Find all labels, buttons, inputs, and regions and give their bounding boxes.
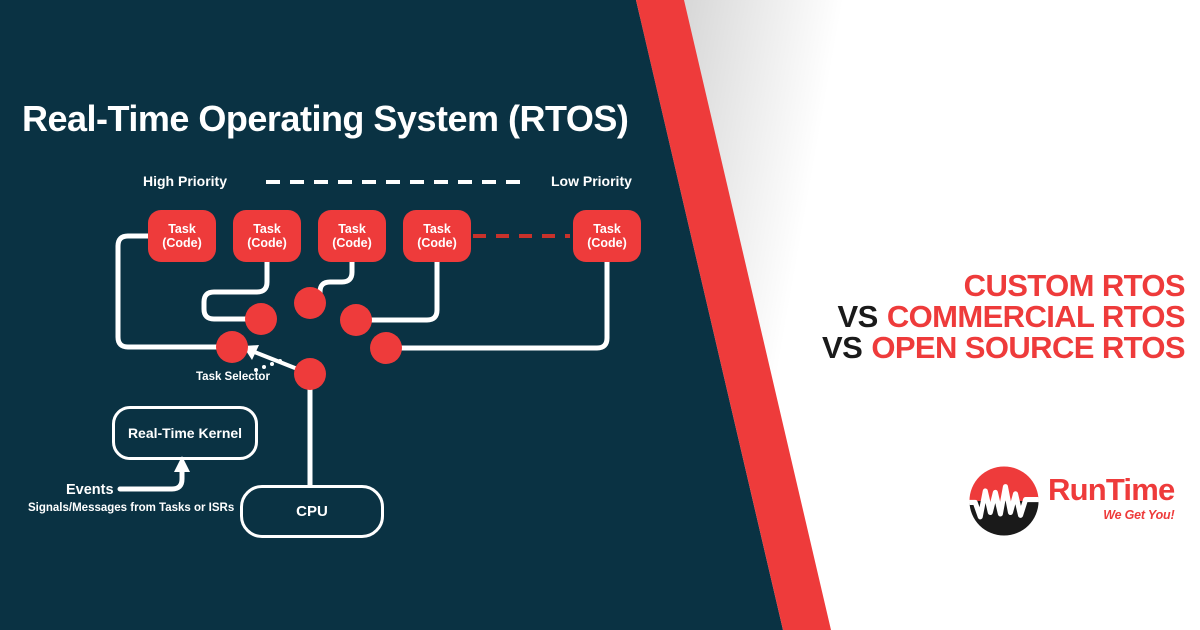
task-box-1-line2: (Code) — [162, 236, 202, 250]
queue-node-1 — [245, 303, 277, 335]
headline-row-2: VS COMMERCIAL RTOS — [795, 301, 1185, 332]
headline-line-1: CUSTOM RTOS — [964, 270, 1185, 301]
headline-row-3: VS OPEN SOURCE RTOS — [795, 332, 1185, 363]
task-box-4[interactable]: Task (Code) — [403, 210, 471, 262]
task-box-5-line1: Task — [593, 222, 621, 236]
headline-line-3: OPEN SOURCE RTOS — [871, 332, 1185, 363]
task-box-5-line2: (Code) — [587, 236, 627, 250]
task-selector-label: Task Selector — [196, 371, 270, 383]
runtime-name: RunTime — [1048, 474, 1174, 505]
vs-label-2: VS — [822, 332, 862, 363]
events-label: Events — [66, 482, 114, 498]
task-box-4-line1: Task — [423, 222, 451, 236]
queue-node-3 — [340, 304, 372, 336]
task-box-3-line2: (Code) — [332, 236, 372, 250]
cpu-label: CPU — [296, 503, 328, 520]
queue-node-4 — [370, 332, 402, 364]
headline-row-1: VS CUSTOM RTOS — [795, 270, 1185, 301]
runtime-waveform-icon — [968, 465, 1040, 537]
task-box-3-line1: Task — [338, 222, 366, 236]
real-time-kernel-label: Real-Time Kernel — [128, 425, 242, 441]
cpu-box[interactable]: CPU — [240, 485, 384, 538]
comparison-headline: VS CUSTOM RTOS VS COMMERCIAL RTOS VS OPE… — [795, 270, 1185, 363]
runtime-logo[interactable]: RunTime We Get You! — [968, 462, 1168, 542]
task-box-1-line1: Task — [168, 222, 196, 236]
runtime-name-time: Time — [1106, 472, 1175, 507]
runtime-tagline: We Get You! — [1048, 508, 1174, 522]
task-box-5[interactable]: Task (Code) — [573, 210, 641, 262]
task-box-4-line2: (Code) — [417, 236, 457, 250]
events-sublabel: Signals/Messages from Tasks or ISRs — [28, 501, 198, 517]
headline-line-2: COMMERCIAL RTOS — [887, 301, 1185, 332]
queue-node-2 — [294, 287, 326, 319]
vs-label-1: VS — [838, 301, 878, 332]
task-box-2[interactable]: Task (Code) — [233, 210, 301, 262]
task-box-2-line2: (Code) — [247, 236, 287, 250]
selected-task-node — [216, 331, 248, 363]
task-box-1[interactable]: Task (Code) — [148, 210, 216, 262]
running-task-node — [294, 358, 326, 390]
real-time-kernel-box[interactable]: Real-Time Kernel — [112, 406, 258, 460]
poster-canvas: Real-Time Operating System (RTOS) High P… — [0, 0, 1200, 630]
task-box-3[interactable]: Task (Code) — [318, 210, 386, 262]
runtime-name-run: Run — [1048, 472, 1106, 507]
task-box-2-line1: Task — [253, 222, 281, 236]
runtime-wordmark: RunTime We Get You! — [1048, 474, 1174, 522]
